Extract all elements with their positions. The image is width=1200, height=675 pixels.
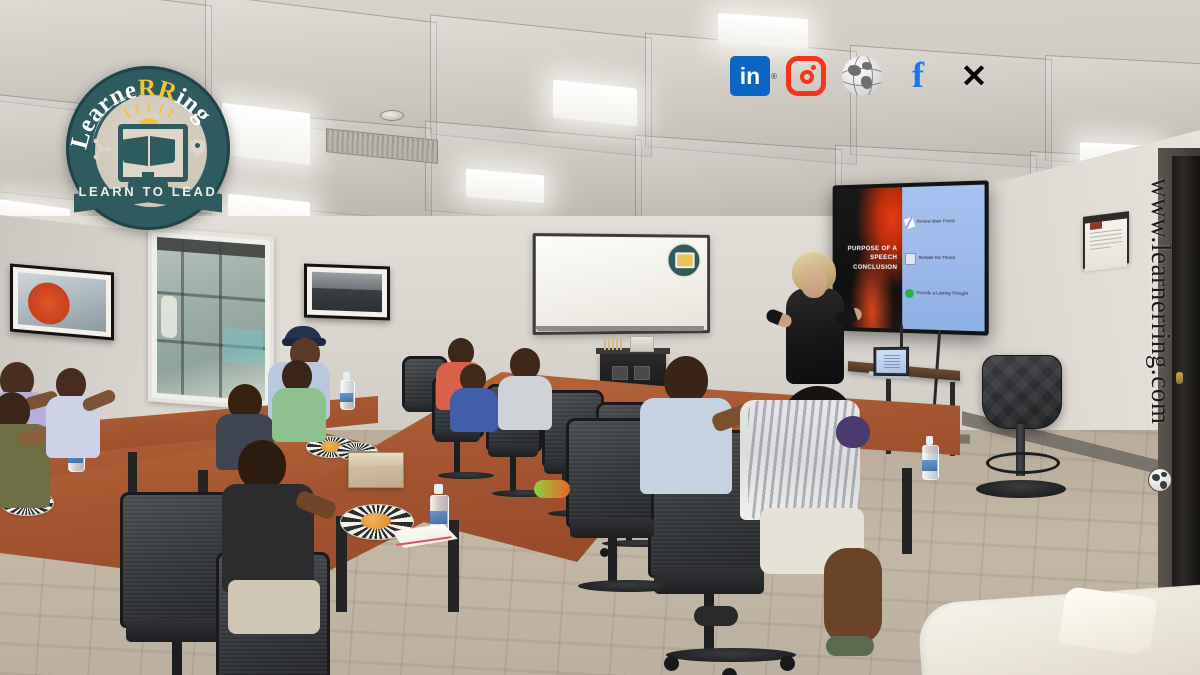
whiteboard <box>533 233 710 335</box>
window-glass <box>157 237 265 401</box>
shoe <box>694 606 738 626</box>
table-leg <box>902 468 912 554</box>
stool-base <box>976 480 1066 498</box>
osprey-photo <box>304 263 390 320</box>
whiteboard-marker-tray <box>536 326 704 331</box>
shoe <box>826 636 874 656</box>
food-item <box>361 513 391 529</box>
slide-bullet-text: Provide a Lasting Thought <box>917 292 969 297</box>
open-book-icon <box>123 136 148 166</box>
smoke-detector-icon <box>380 110 404 121</box>
laptop[interactable] <box>873 347 909 376</box>
ceiling-light <box>222 103 310 166</box>
ceiling-light <box>718 13 808 49</box>
photo-image <box>18 272 106 332</box>
logo-tagline: LEARN TO LEAD <box>66 184 230 199</box>
credenza-door[interactable] <box>634 366 650 380</box>
pencil-cup <box>604 338 624 350</box>
presenter-body <box>786 288 844 384</box>
water-bottle <box>922 436 937 480</box>
learnerring-logo: LearneRRing LEARN TO LEAD <box>66 66 230 230</box>
green-dot-icon <box>905 289 914 298</box>
door-handle-icon[interactable] <box>1176 372 1183 384</box>
slide-bullet: Restate the Thesis <box>905 252 981 264</box>
pen-icon <box>904 217 915 229</box>
water-bottle <box>340 372 353 410</box>
tissue-box <box>630 336 654 352</box>
photo-image <box>312 272 382 312</box>
window-header <box>157 237 265 258</box>
slide-title-panel: PURPOSE OF A SPEECH CONCLUSION <box>836 187 902 329</box>
network-node-icon <box>92 138 112 160</box>
globe-icon <box>1148 468 1172 492</box>
window-mullion <box>219 242 222 398</box>
instagram-icon[interactable] <box>786 56 826 96</box>
social-icon-bar: in f ✕ <box>730 56 994 96</box>
slide-title: PURPOSE OF A SPEECH CONCLUSION <box>848 244 902 272</box>
photo-mat <box>307 267 387 318</box>
helicopter-photo <box>10 263 114 340</box>
laptop-screen <box>876 350 906 373</box>
drafting-stool[interactable] <box>982 355 1062 429</box>
classroom-photo: PURPOSE OF A SPEECH CONCLUSION Review Ma… <box>0 0 1200 675</box>
facebook-icon[interactable]: f <box>898 56 938 96</box>
framed-certificate <box>1083 211 1129 269</box>
slide-bullet: Provide a Lasting Thought <box>905 289 981 299</box>
window-mullion <box>181 239 184 395</box>
stool-footring <box>986 452 1060 474</box>
pizza-box <box>348 452 404 488</box>
presenter-face <box>801 268 827 298</box>
interior-window <box>148 227 274 411</box>
photo-mat <box>13 267 111 338</box>
open-book-icon <box>150 136 175 166</box>
shorts <box>228 580 320 634</box>
credenza-door[interactable] <box>612 366 628 380</box>
slide-bullet-text: Restate the Thesis <box>919 256 956 261</box>
whiteboard-learnerring-logo <box>666 242 701 278</box>
document-icon <box>905 252 916 264</box>
slide-bullet: Review Main Points <box>905 216 981 227</box>
slide-bullet-text: Review Main Points <box>917 220 956 225</box>
website-url[interactable]: www.learnerring.com <box>1145 178 1176 425</box>
leg <box>824 548 882 644</box>
sneaker <box>534 480 570 498</box>
x-icon[interactable]: ✕ <box>954 56 994 96</box>
certificate-paper <box>1085 218 1127 271</box>
slide-bullet-panel: Review Main Points Restate the Thesis Pr… <box>902 185 984 332</box>
linkedin-icon[interactable]: in <box>730 56 770 96</box>
globe-icon[interactable] <box>842 56 882 96</box>
